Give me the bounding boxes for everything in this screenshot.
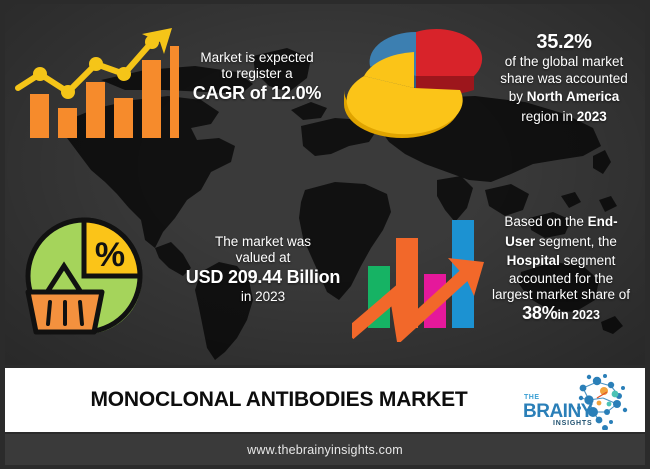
end-user-segment-a: End- (588, 214, 618, 229)
region-share-line-3-lead: by (509, 89, 527, 104)
end-user-line-2-rest: segment, the (535, 234, 617, 249)
pie-chart-3d-svg (338, 18, 483, 146)
end-user-stat-text: Based on the End- User segment, the Hosp… (472, 212, 650, 325)
bar-line-chart-svg (14, 22, 179, 142)
cagr-stat-text: Market is expected to register a CAGR of… (172, 50, 342, 105)
market-value-line-1: The market was (172, 234, 354, 250)
region-share-line-1: of the global market (478, 54, 650, 70)
basket-pie-svg: % (12, 212, 167, 342)
url-band: www.thebrainyinsights.com (5, 434, 645, 465)
end-user-line-3-rest: segment (560, 253, 616, 268)
logo-the-text: THE (524, 394, 540, 401)
region-share-line-4-lead: region in (521, 109, 577, 124)
end-user-line-3: Hospital segment (472, 251, 650, 271)
end-user-hospital: Hospital (507, 253, 560, 268)
end-user-value: 38% (522, 303, 557, 323)
website-url[interactable]: www.thebrainyinsights.com (247, 443, 403, 457)
title-band: MONOCLONAL ANTIBODIES MARKET (5, 368, 645, 432)
logo-insights-text: INSIGHTS (553, 420, 592, 427)
brainy-insights-logo[interactable]: THE BRAINY INSIGHTS (519, 370, 637, 430)
region-share-stat-text: 35.2% of the global market share was acc… (478, 30, 650, 126)
cagr-line-1: Market is expected (172, 50, 342, 66)
percent-glyph: % (95, 236, 125, 274)
region-share-line-3: by North America (478, 87, 650, 107)
end-user-line-2: User segment, the (472, 232, 650, 252)
market-value-amount: USD 209.44 Billion (172, 267, 354, 289)
region-share-value: 35.2% (478, 30, 650, 54)
bar-line-chart-icon (14, 22, 179, 142)
pie-chart-3d-icon (338, 18, 483, 146)
end-user-line-6: 38%in 2023 (472, 303, 650, 325)
market-value-line-2: valued at (172, 250, 354, 266)
region-share-line-4: region in 2023 (478, 107, 650, 127)
market-value-year: in 2023 (172, 289, 354, 305)
market-value-stat-text: The market was valued at USD 209.44 Bill… (172, 234, 354, 305)
page-title: MONOCLONAL ANTIBODIES MARKET (5, 388, 519, 412)
end-user-line-1: Based on the End- (472, 212, 650, 232)
region-share-line-2: share was accounted (478, 71, 650, 87)
end-user-year: in 2023 (558, 308, 600, 322)
end-user-line-5: largest market share of (472, 287, 650, 303)
end-user-line-1-lead: Based on the (504, 214, 587, 229)
basket-pie-icon: % (12, 212, 167, 342)
end-user-line-4: accounted for the (472, 271, 650, 287)
cagr-value: CAGR of 12.0% (172, 83, 342, 105)
cagr-line-2: to register a (172, 66, 342, 82)
infographic-root: Market is expected to register a CAGR of… (0, 0, 650, 469)
region-share-year: 2023 (577, 109, 607, 124)
region-share-region: North America (527, 89, 620, 104)
end-user-segment-b: User (505, 234, 535, 249)
